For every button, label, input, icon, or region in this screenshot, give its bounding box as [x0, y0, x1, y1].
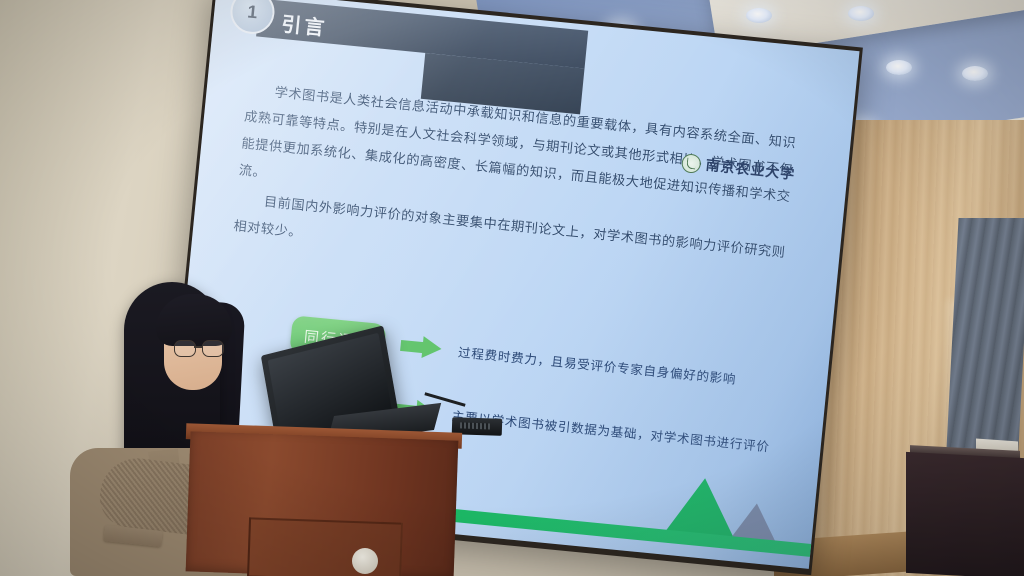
- podium-knob: [352, 548, 378, 574]
- dark-furniture: [906, 452, 1024, 576]
- flow-description: 过程费时费力，且易受评价专家自身偏好的影响: [457, 341, 737, 387]
- ceiling-light-icon: [746, 8, 772, 23]
- ceiling-light-icon: [962, 66, 988, 81]
- ceiling-light-icon: [848, 6, 874, 21]
- slide-body-text: 学术图书是人类社会信息活动中承载知识和信息的重要载体，具有内容系统全面、知识成熟…: [232, 76, 806, 296]
- slide-title: 引言: [280, 8, 329, 41]
- mountain-shape-grey: [731, 501, 778, 541]
- presentation-photo-scene: 引言 1 学术图书是人类社会信息活动中承载知识和信息的重要载体，具有内容系统全面…: [0, 0, 1024, 576]
- window-curtain: [945, 218, 1024, 468]
- university-emblem-icon: [681, 153, 702, 174]
- glasses-icon: [174, 340, 226, 355]
- arrow-right-icon: [400, 334, 444, 360]
- ceiling-light-icon: [886, 60, 912, 75]
- podium-front-panel: [247, 517, 403, 576]
- mountain-shape-green: [666, 475, 739, 537]
